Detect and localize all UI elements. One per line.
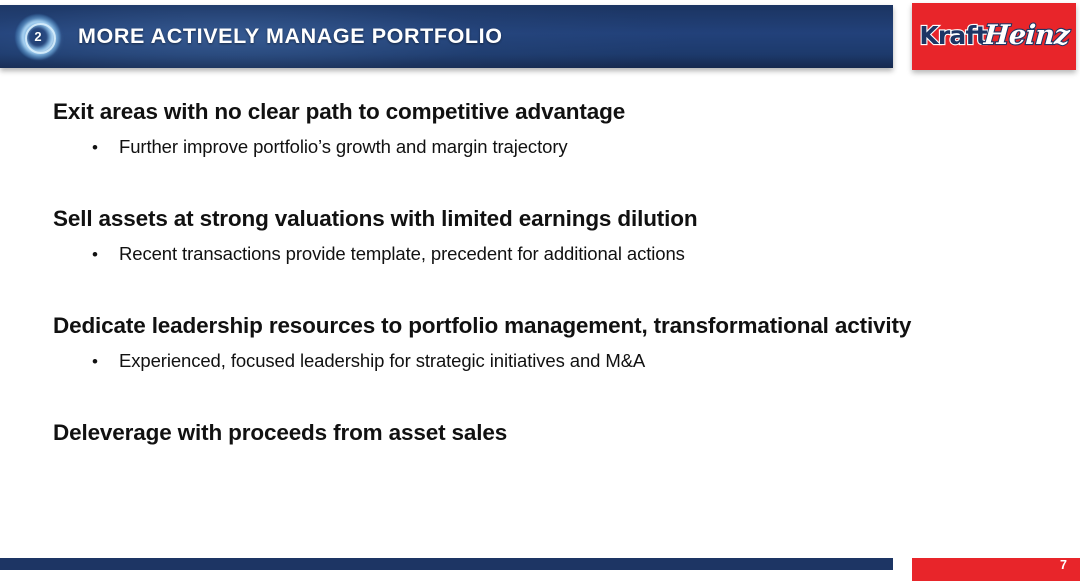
slide: 2 MORE ACTIVELY MANAGE PORTFOLIO Kraft H… bbox=[0, 0, 1080, 581]
bullet-text: Recent transactions provide template, pr… bbox=[119, 243, 685, 264]
bullet-dot-icon: • bbox=[92, 246, 119, 263]
content-section-3: Dedicate leadership resources to portfol… bbox=[53, 314, 911, 371]
section-heading: Deleverage with proceeds from asset sale… bbox=[53, 421, 507, 446]
content-section-1: Exit areas with no clear path to competi… bbox=[53, 100, 625, 157]
section-heading: Exit areas with no clear path to competi… bbox=[53, 100, 625, 125]
bullet-text: Further improve portfolio’s growth and m… bbox=[119, 136, 568, 157]
kraft-heinz-logo: Kraft Heinz bbox=[912, 3, 1076, 70]
section-heading: Sell assets at strong valuations with li… bbox=[53, 207, 697, 232]
logo-lockup: Kraft Heinz bbox=[919, 22, 1068, 49]
footer-navy-bar bbox=[0, 558, 893, 570]
bullet-dot-icon: • bbox=[92, 139, 119, 156]
bullet-dot-icon: • bbox=[92, 353, 119, 370]
logo-word-heinz: Heinz bbox=[983, 22, 1070, 49]
bullet-item: • Experienced, focused leadership for st… bbox=[53, 350, 911, 371]
content-section-2: Sell assets at strong valuations with li… bbox=[53, 207, 697, 264]
page-number: 7 bbox=[1060, 559, 1067, 572]
header-content: 2 MORE ACTIVELY MANAGE PORTFOLIO bbox=[0, 5, 893, 68]
logo-word-kraft: Kraft bbox=[919, 23, 986, 48]
page-title: MORE ACTIVELY MANAGE PORTFOLIO bbox=[78, 24, 503, 49]
badge-number: 2 bbox=[34, 30, 41, 43]
footer-red-bar: 7 bbox=[912, 558, 1080, 581]
section-number-badge: 2 bbox=[17, 16, 59, 58]
slide-body: Exit areas with no clear path to competi… bbox=[0, 68, 1080, 551]
bullet-item: • Recent transactions provide template, … bbox=[53, 243, 697, 264]
section-heading: Dedicate leadership resources to portfol… bbox=[53, 314, 911, 339]
bullet-item: • Further improve portfolio’s growth and… bbox=[53, 136, 625, 157]
content-section-4: Deleverage with proceeds from asset sale… bbox=[53, 421, 507, 446]
bullet-text: Experienced, focused leadership for stra… bbox=[119, 350, 645, 371]
slide-header-bar: 2 MORE ACTIVELY MANAGE PORTFOLIO bbox=[0, 5, 893, 68]
